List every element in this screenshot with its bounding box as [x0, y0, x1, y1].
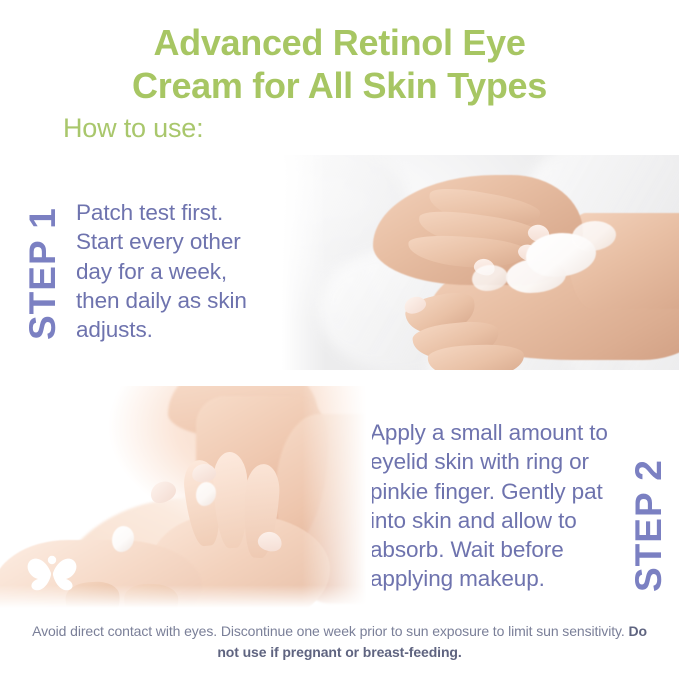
step-1-label: STEP 1: [22, 207, 64, 340]
page-title: Advanced Retinol Eye Cream for All Skin …: [0, 22, 679, 108]
image-edge-fade: [278, 155, 326, 370]
step-2-label: STEP 2: [628, 459, 670, 592]
step-1-image: [278, 155, 679, 370]
image-edge-fade: [302, 386, 372, 611]
title-line-1: Advanced Retinol Eye: [153, 22, 525, 63]
step-2-image: [0, 386, 372, 611]
product-infographic: Advanced Retinol Eye Cream for All Skin …: [0, 0, 679, 679]
disclaimer-text: Avoid direct contact with eyes. Disconti…: [32, 623, 628, 639]
image-edge-fade: [0, 585, 372, 611]
step-2-body: Apply a small amount to eyelid skin with…: [370, 418, 618, 594]
title-line-2: Cream for All Skin Types: [132, 65, 547, 106]
disclaimer: Avoid direct contact with eyes. Disconti…: [0, 621, 679, 662]
how-to-use-subtitle: How to use:: [63, 113, 203, 144]
step-1-body: Patch test first. Start every other day …: [76, 198, 276, 344]
